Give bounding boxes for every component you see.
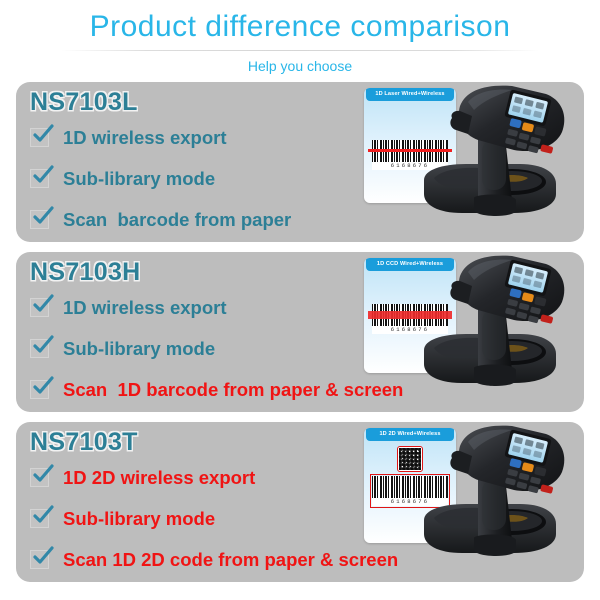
scanner-product-illustration (416, 82, 582, 242)
feature-label: 1D 2D wireless export (63, 468, 255, 488)
header-divider (61, 50, 539, 51)
comparison-panel-list: NS7103L 1D wireless export Sub-library m… (0, 82, 600, 582)
feature-label: Scan 1D 2D code from paper & screen (63, 550, 398, 570)
checkbox-checked-icon (30, 169, 49, 188)
feature-label: 1D wireless export (63, 128, 227, 148)
list-item: Sub-library mode (30, 158, 360, 199)
product-comparison-page: Product difference comparison Help you c… (0, 0, 600, 600)
barcode-scanner-icon (416, 252, 582, 412)
feature-label: Scan barcode from paper (63, 210, 291, 230)
feature-label: Sub-library mode (63, 169, 215, 189)
panel-text-column: NS7103H 1D wireless export Sub-library m… (30, 257, 360, 410)
product-model-name: NS7103H (30, 257, 360, 287)
feature-label: Sub-library mode (63, 509, 215, 529)
product-panel: NS7103T 1D 2D wireless export Sub-librar… (16, 422, 584, 582)
list-item: 1D wireless export (30, 287, 360, 328)
barcode-scanner-icon (416, 82, 582, 242)
checkbox-checked-icon (30, 550, 49, 569)
feature-list: 1D wireless export Sub-library mode Scan… (30, 287, 360, 410)
panel-text-column: NS7103L 1D wireless export Sub-library m… (30, 87, 360, 240)
checkbox-checked-icon (30, 380, 49, 399)
checkbox-checked-icon (30, 210, 49, 229)
scanner-product-illustration (416, 252, 582, 412)
page-header: Product difference comparison Help you c… (0, 0, 600, 74)
scanner-product-illustration (416, 422, 582, 582)
checkbox-checked-icon (30, 298, 49, 317)
feature-label: Sub-library mode (63, 339, 215, 359)
feature-list: 1D wireless export Sub-library mode Scan… (30, 117, 360, 240)
list-item: 1D wireless export (30, 117, 360, 158)
list-item: Sub-library mode (30, 498, 360, 539)
list-item: 1D 2D wireless export (30, 457, 360, 498)
list-item: Scan barcode from paper (30, 199, 360, 240)
list-item: Scan 1D 2D code from paper & screen (30, 539, 360, 580)
feature-label: Scan 1D barcode from paper & screen (63, 380, 403, 400)
checkbox-checked-icon (30, 339, 49, 358)
barcode-scanner-icon (416, 422, 582, 582)
feature-label: 1D wireless export (63, 298, 227, 318)
product-model-name: NS7103L (30, 87, 360, 117)
product-model-name: NS7103T (30, 427, 360, 457)
product-panel: NS7103H 1D wireless export Sub-library m… (16, 252, 584, 412)
list-item: Scan 1D barcode from paper & screen (30, 369, 360, 410)
checkbox-checked-icon (30, 128, 49, 147)
feature-list: 1D 2D wireless export Sub-library mode S… (30, 457, 360, 580)
list-item: Sub-library mode (30, 328, 360, 369)
panel-text-column: NS7103T 1D 2D wireless export Sub-librar… (30, 427, 360, 580)
checkbox-checked-icon (30, 468, 49, 487)
product-panel: NS7103L 1D wireless export Sub-library m… (16, 82, 584, 242)
page-title: Product difference comparison (0, 8, 600, 46)
checkbox-checked-icon (30, 509, 49, 528)
page-subtitle: Help you choose (0, 58, 600, 74)
